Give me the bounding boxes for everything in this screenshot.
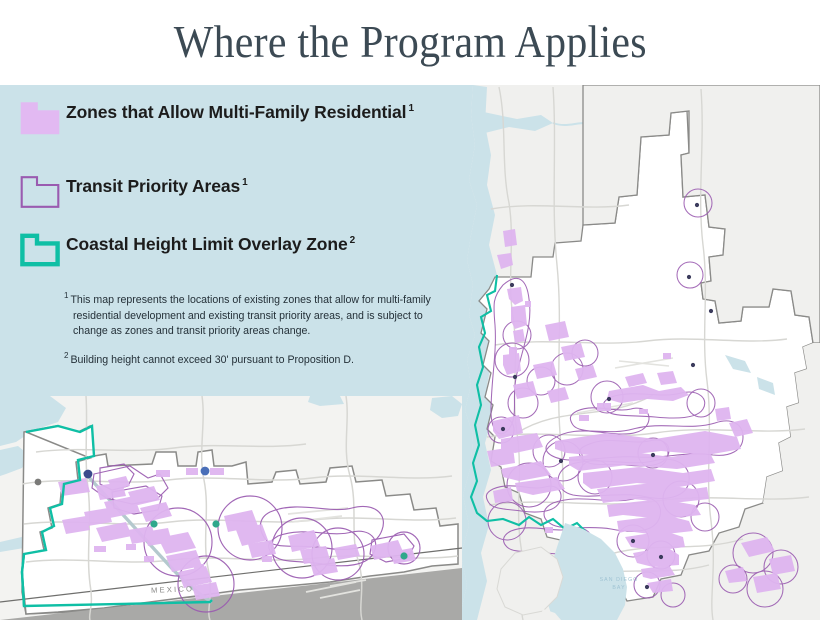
coastal-height-limit-overlay-swatch-icon [20,233,60,267]
footnote-text: This map represents the locations of exi… [70,294,430,337]
legend-item-multi-family-residential[interactable]: Zones that Allow Multi-Family Residentia… [20,101,450,135]
san-diego-citywide-map[interactable]: SAN DIEGO BAY [457,85,820,620]
content-area: SAN DIEGO BAY [0,85,820,620]
swatch-wrap [20,175,66,209]
legend-item-label: Transit Priority Areas1 [66,175,248,198]
swatch-wrap [20,101,66,135]
footnote-text: Building height cannot exceed 30' pursua… [70,354,354,366]
footnotes-block: 1This map represents the locations of ex… [64,293,454,382]
south-bay-otay-mesa-inset-map[interactable]: MEXICO [0,396,462,620]
legend-label-text: Transit Priority Areas [66,176,240,196]
legend-item-transit-priority-areas[interactable]: Transit Priority Areas1 [20,175,450,209]
inset-map-graphic [0,396,462,620]
legend-footnote-marker: 1 [406,103,413,114]
legend-label-text: Zones that Allow Multi-Family Residentia… [66,102,406,122]
legend-footnote-marker: 1 [240,177,247,188]
legend-footnote-marker: 2 [348,235,355,246]
footnote-2: 2Building height cannot exceed 30' pursu… [64,353,454,369]
slide: Where the Program Applies [0,0,820,620]
legend-label-text: Coastal Height Limit Overlay Zone [66,234,348,254]
page-title: Where the Program Applies [173,20,646,65]
legend-item-coastal-height-limit-overlay-zone[interactable]: Coastal Height Limit Overlay Zone2 [20,233,465,267]
transit-priority-area-swatch-icon [20,175,60,209]
legend-panel: Zones that Allow Multi-Family Residentia… [0,85,462,396]
multi-family-zone-swatch-icon [20,101,60,135]
title-band: Where the Program Applies [0,0,820,85]
main-map-graphic [457,85,820,620]
legend-item-label: Zones that Allow Multi-Family Residentia… [66,101,414,124]
swatch-wrap [20,233,66,267]
footnote-1: 1This map represents the locations of ex… [64,293,454,340]
legend-item-label: Coastal Height Limit Overlay Zone2 [66,233,355,256]
